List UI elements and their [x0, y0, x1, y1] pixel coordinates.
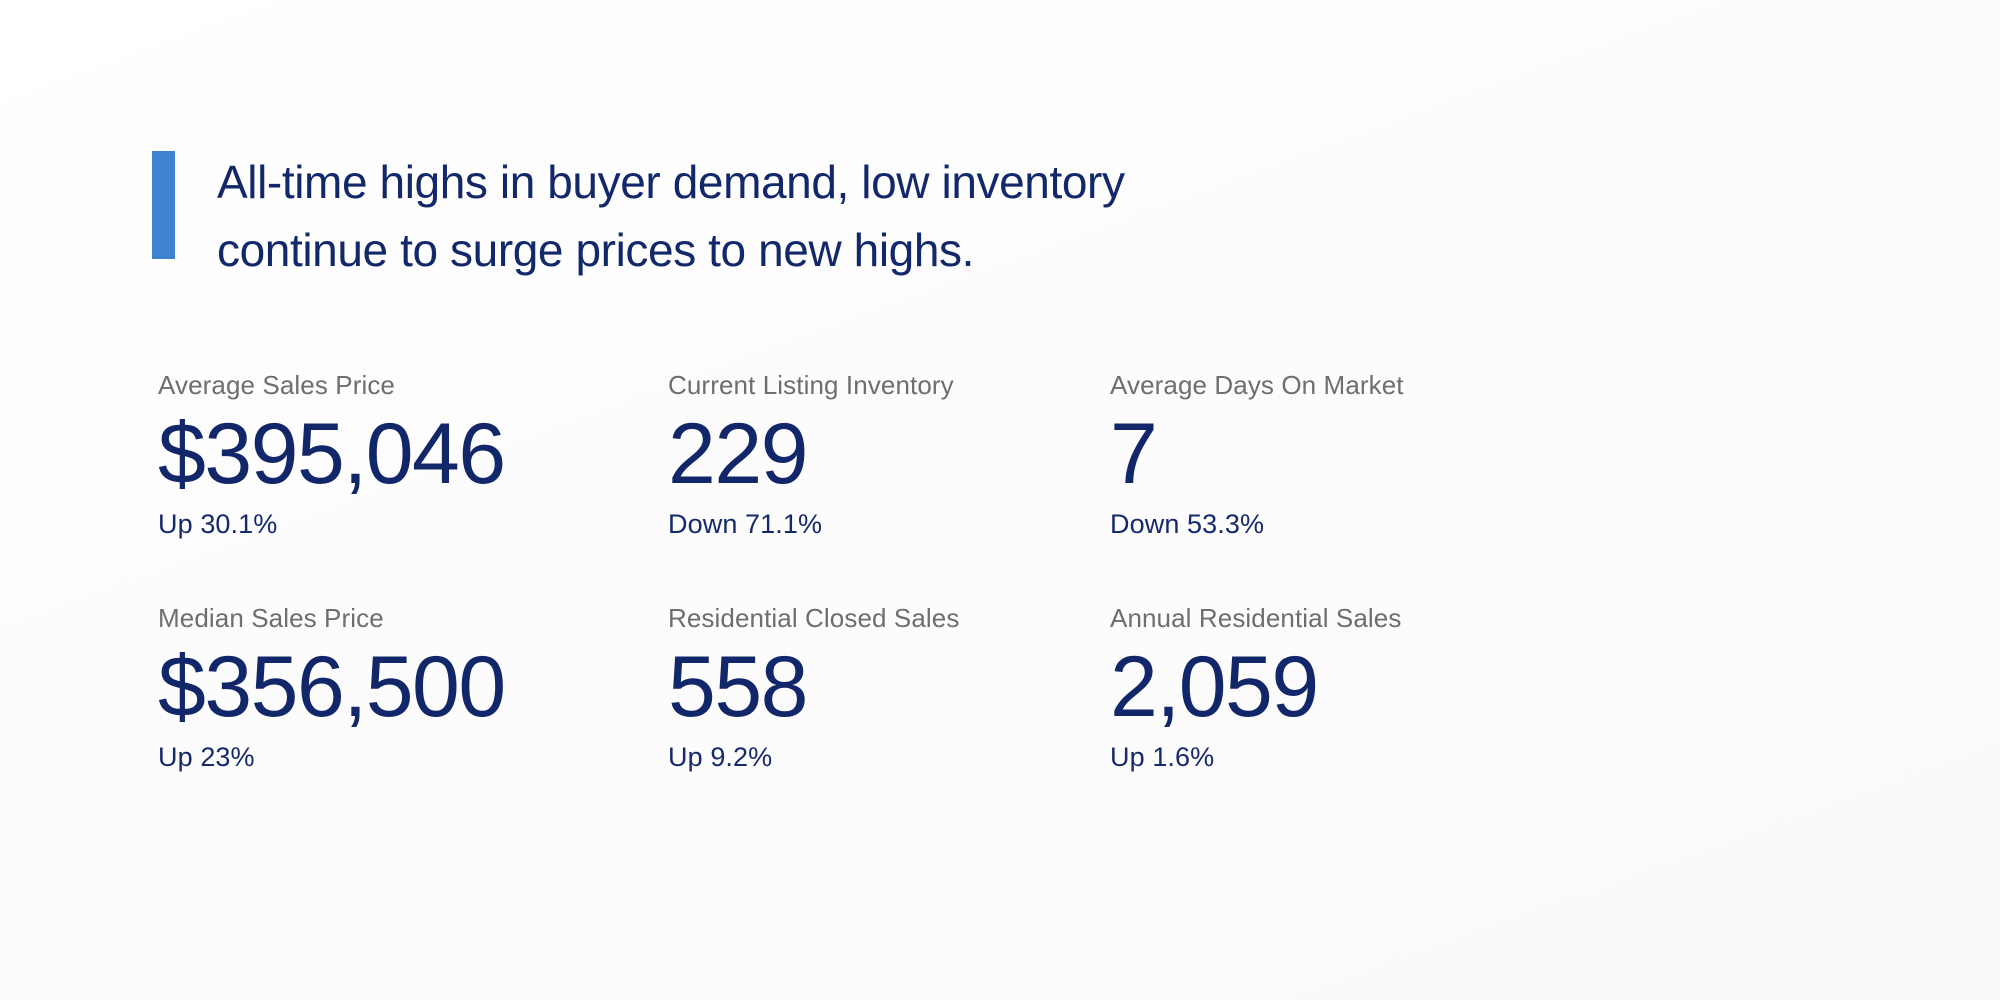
accent-bar-icon: [152, 151, 175, 259]
stat-value: $356,500: [158, 639, 505, 735]
stat-card-residential-closed-sales: Residential Closed Sales 558 Up 9.2%: [668, 603, 1110, 773]
stat-delta: Down 71.1%: [668, 508, 822, 540]
stat-delta: Down 53.3%: [1110, 508, 1264, 540]
stat-delta: Up 30.1%: [158, 508, 277, 540]
stat-delta: Up 1.6%: [1110, 741, 1214, 773]
stat-label: Annual Residential Sales: [1110, 603, 1401, 633]
stat-label: Residential Closed Sales: [668, 603, 959, 633]
stat-value: 558: [668, 639, 807, 735]
stat-card-current-listing-inventory: Current Listing Inventory 229 Down 71.1%: [668, 370, 1110, 540]
stat-label: Average Sales Price: [158, 370, 395, 400]
stat-card-average-sales-price: Average Sales Price $395,046 Up 30.1%: [158, 370, 668, 540]
page-title: All-time highs in buyer demand, low inve…: [217, 148, 1125, 284]
stat-value: 7: [1110, 406, 1156, 502]
stat-label: Current Listing Inventory: [668, 370, 954, 400]
stat-card-average-days-on-market: Average Days On Market 7 Down 53.3%: [1110, 370, 1530, 540]
stat-value: 229: [668, 406, 807, 502]
stat-delta: Up 23%: [158, 741, 255, 773]
headline-block: All-time highs in buyer demand, low inve…: [152, 148, 1125, 284]
stat-label: Median Sales Price: [158, 603, 384, 633]
stat-card-annual-residential-sales: Annual Residential Sales 2,059 Up 1.6%: [1110, 603, 1530, 773]
stats-grid: Average Sales Price $395,046 Up 30.1% Cu…: [158, 370, 1498, 773]
report-canvas: All-time highs in buyer demand, low inve…: [0, 0, 2000, 1000]
stat-value: 2,059: [1110, 639, 1318, 735]
stat-card-median-sales-price: Median Sales Price $356,500 Up 23%: [158, 603, 668, 773]
stat-delta: Up 9.2%: [668, 741, 772, 773]
stat-value: $395,046: [158, 406, 505, 502]
stat-label: Average Days On Market: [1110, 370, 1404, 400]
